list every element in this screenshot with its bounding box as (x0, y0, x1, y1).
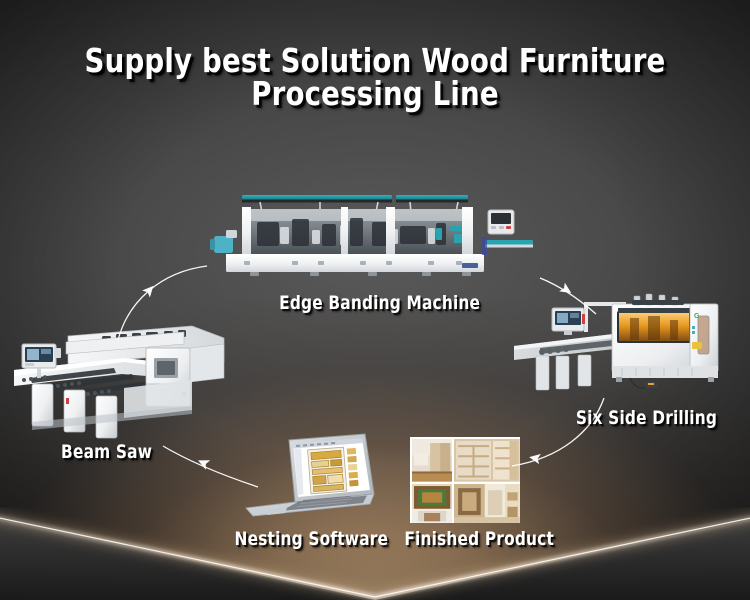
label-edge-banding-machine: Edge Banding Machine (279, 292, 480, 314)
label-nesting-software: Nesting Software (235, 528, 389, 550)
arrow-path-beamsaw-to-edge (118, 266, 207, 340)
label-finished-product: Finished Product (404, 528, 554, 550)
poster-canvas: G (0, 0, 750, 600)
label-six-side-drilling: Six Side Drilling (576, 407, 717, 429)
label-beam-saw: Beam Saw (61, 441, 152, 463)
arrowhead-nesting-to-beamsaw (196, 456, 210, 470)
arrow-path-nesting-to-beamsaw (163, 446, 258, 487)
arrow-path-edge-to-drilling (540, 278, 596, 314)
page-title: Supply best Solution Wood Furniture Proc… (26, 44, 724, 110)
